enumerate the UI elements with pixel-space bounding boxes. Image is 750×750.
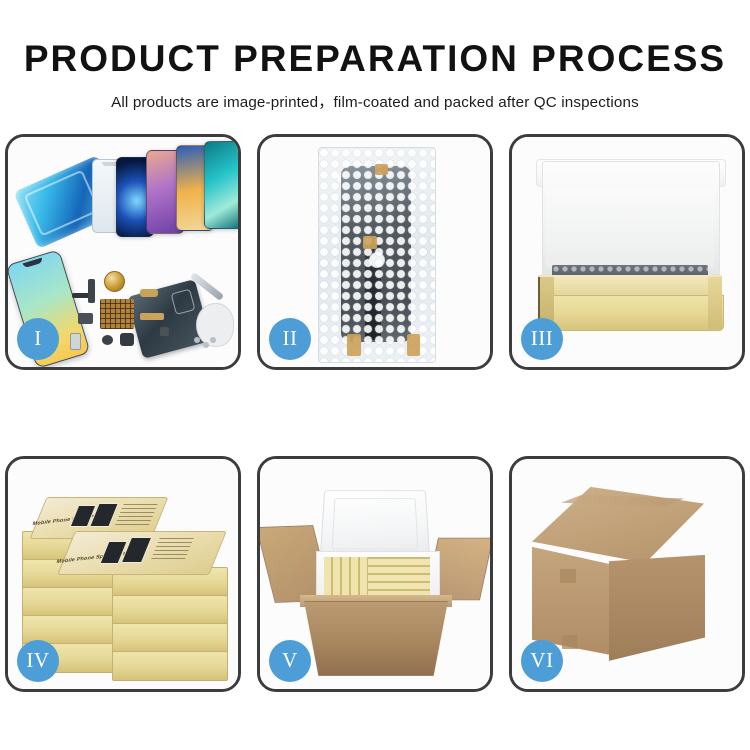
kraft-box-rim: [538, 275, 722, 297]
carton-tab-upper: [560, 569, 576, 583]
process-steps-grid: I II III: [2, 134, 748, 692]
bubble-texture: [319, 148, 435, 362]
step-badge-3: III: [521, 318, 563, 360]
gold-flex-part: [140, 313, 164, 320]
speaker-coil-part: [104, 271, 125, 292]
bubble-wrap-bag: [318, 147, 436, 363]
kraft-box-right-side: [708, 277, 722, 329]
step-badge-4: IV: [17, 640, 59, 682]
kraft-box-front: [538, 295, 724, 331]
tape-piece-top: [375, 164, 388, 175]
carton-body: [304, 601, 448, 676]
process-step-panel-2[interactable]: II: [257, 134, 493, 370]
header: PRODUCT PREPARATION PROCESS All products…: [0, 0, 750, 112]
process-step-panel-6[interactable]: VI: [509, 456, 745, 692]
step-badge-5: V: [269, 640, 311, 682]
process-step-panel-4[interactable]: Mobile Phone Spare Parts Mobile Phone Sp…: [5, 456, 241, 692]
packed-retail-boxes: [324, 557, 430, 597]
button-part: [102, 335, 113, 345]
gold-contact-part: [140, 289, 158, 297]
stacked-box: [112, 651, 228, 681]
tape-piece-bottom-right: [407, 334, 420, 356]
phone-screen-teal: [204, 141, 241, 229]
foam-sheet: [546, 189, 714, 267]
step-badge-1: I: [17, 318, 59, 360]
retail-boxes-row-a: [324, 557, 368, 597]
screws-group: [194, 337, 216, 349]
stacked-box: [112, 623, 228, 653]
retail-boxes-row-b: [368, 557, 430, 597]
tape-piece-bottom-left: [347, 334, 361, 356]
step-badge-6: VI: [521, 640, 563, 682]
page-title: PRODUCT PREPARATION PROCESS: [0, 40, 750, 79]
page-subtitle: All products are image-printed，film-coat…: [0, 90, 750, 112]
step-badge-2: II: [269, 318, 311, 360]
carton-tab-lower: [562, 635, 578, 649]
process-step-panel-3[interactable]: III: [509, 134, 745, 370]
camera-module-part: [78, 313, 93, 324]
vibrator-part: [120, 333, 134, 346]
sim-tray-part: [70, 333, 81, 350]
tape-piece-middle: [363, 236, 377, 249]
antenna-strip-part: [88, 279, 95, 303]
carton-right-face: [609, 555, 705, 661]
connector-pad-part: [100, 299, 134, 329]
small-chip-part: [160, 327, 169, 336]
process-step-panel-5[interactable]: V: [257, 456, 493, 692]
stacked-box: [112, 595, 228, 625]
process-step-panel-1[interactable]: I: [5, 134, 241, 370]
stacked-box: [22, 587, 116, 617]
